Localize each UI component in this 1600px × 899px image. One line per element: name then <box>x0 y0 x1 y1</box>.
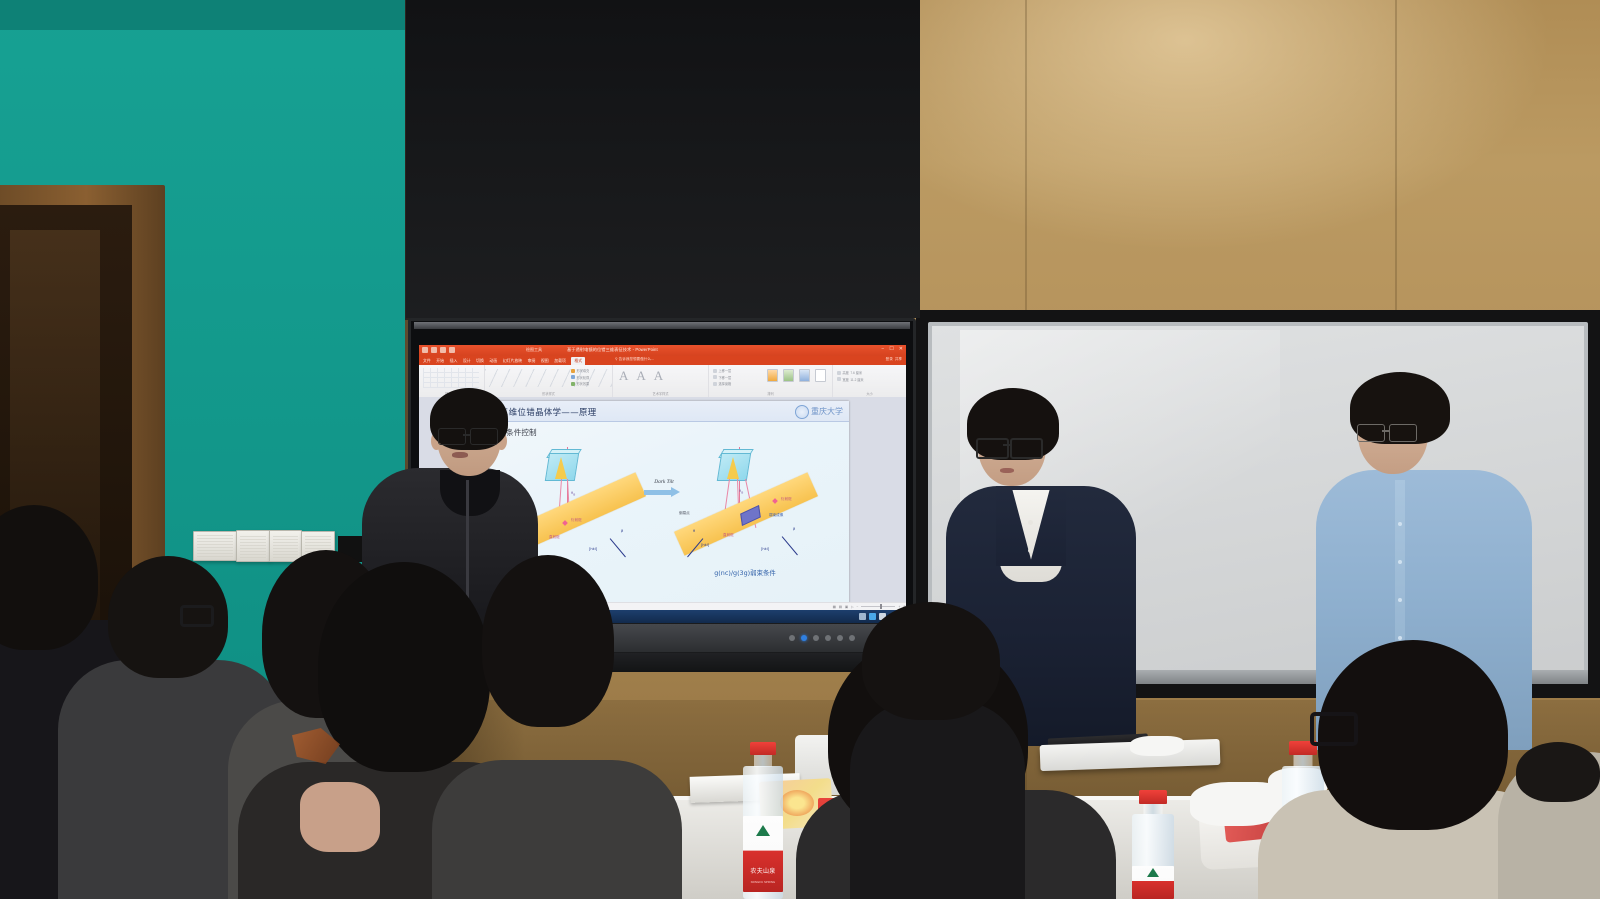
university-logo: 重庆大学 <box>795 405 843 419</box>
start-slideshow-icon[interactable] <box>449 347 455 353</box>
seated-attendee-7 <box>850 700 1025 899</box>
width-value[interactable]: 11.2 厘米 <box>850 377 863 382</box>
student-right-eyeglasses-icon <box>1389 424 1417 442</box>
student-left-glasses-bridge <box>1003 444 1012 446</box>
diagram-caption-right: g(nc)/g(3g)弱束条件 <box>669 568 821 577</box>
selection-pane-item[interactable]: 选择窗格 <box>713 381 731 386</box>
presenter-eyeglasses-icon <box>438 428 466 445</box>
fill-swatch-icon <box>571 369 575 373</box>
university-name: 重庆大学 <box>811 406 843 417</box>
bring-forward-label: 上移一层 <box>719 368 732 373</box>
shirt-button <box>1028 520 1033 525</box>
height-icon <box>837 371 841 375</box>
student-right-eyeglasses-icon <box>1357 424 1385 442</box>
label-weak-beam-imaging: 弱束成像 <box>769 513 783 518</box>
outline-swatch-icon <box>571 375 575 379</box>
label-direct-spot: 直射斑 <box>549 535 560 540</box>
control-button[interactable] <box>825 635 831 641</box>
ppt-title-bar: 绘图工具 基于透射电镜的位错三维表征技术 - PowerPoint − ☐ ✕ <box>419 345 906 356</box>
align-icon[interactable] <box>767 369 778 382</box>
wall-socket-2[interactable] <box>269 530 302 562</box>
restore-icon[interactable]: ☐ <box>889 346 893 352</box>
shape-fill-label: 形状填充 <box>577 368 590 373</box>
shape-gallery-icon[interactable] <box>423 368 479 388</box>
student-right-glasses-bridge <box>1382 430 1390 432</box>
ribbon-group-label: 排列 <box>709 391 832 396</box>
tab-home[interactable]: 开始 <box>436 358 444 364</box>
slide-title: 三维位错晶体学——原理 <box>500 406 597 418</box>
label-hkl-left: [hkl] <box>701 543 709 547</box>
send-backward-label: 下移一层 <box>719 375 732 380</box>
water-bottle: 农夫山泉 NONGFU SPRING <box>740 742 786 899</box>
height-value[interactable]: 7.6 厘米 <box>850 370 862 375</box>
width-icon <box>837 377 841 381</box>
control-button[interactable] <box>837 635 843 641</box>
ribbon-group-wordart-styles[interactable]: A A A 艺术字样式 <box>613 365 709 397</box>
save-icon[interactable] <box>422 347 428 353</box>
document-title: 基于透射电镜的位错三维表征技术 - PowerPoint <box>567 347 658 353</box>
student-left-eyeglasses-icon <box>976 438 1009 459</box>
tab-animation[interactable]: 动画 <box>489 358 497 364</box>
ribbon-group-size[interactable]: 高度7.6 厘米 宽度11.2 厘米 大小 <box>833 365 906 397</box>
label-theta: θ <box>693 529 695 533</box>
display-upper-housing <box>406 0 920 318</box>
seated-attendee-2-eyeglasses-icon <box>180 605 214 627</box>
diagram-weak-beam: 入射电子束 z θB 衍射斑 弱束成像 直射斑 倒易点 <box>669 447 821 581</box>
shape-outline-item[interactable]: 形状轮廓 <box>571 375 589 380</box>
student-left-mouth <box>1000 468 1014 473</box>
tab-slideshow[interactable]: 幻灯片放映 <box>503 358 522 364</box>
shirt-button <box>1398 522 1402 526</box>
presenter-mouth <box>452 452 468 458</box>
axis-beta <box>610 538 626 557</box>
wall-socket-1[interactable] <box>236 530 270 562</box>
seated-attendee-7-head <box>862 602 1000 720</box>
close-icon[interactable]: ✕ <box>899 346 903 352</box>
shape-effects-label: 形状效果 <box>577 381 590 386</box>
network-icon[interactable] <box>859 613 866 620</box>
shirt-button <box>1398 598 1402 602</box>
minimize-icon[interactable]: − <box>881 346 884 352</box>
water-bottle <box>1128 790 1178 899</box>
ribbon-group-arrange[interactable]: 上移一层 下移一层 选择窗格 排列 <box>709 365 833 397</box>
group-icon[interactable] <box>783 369 794 382</box>
undo-icon[interactable] <box>431 347 437 353</box>
display-buttons[interactable] <box>789 635 855 641</box>
lecture-room-photo: 绘图工具 基于透射电镜的位错三维表征技术 - PowerPoint − ☐ ✕ … <box>0 0 1600 899</box>
tell-me-label: 告诉我您想要做什么... <box>619 357 654 361</box>
light-switch-double[interactable] <box>193 531 237 561</box>
quick-access-toolbar[interactable] <box>422 347 455 353</box>
tissue-pile <box>1130 736 1184 756</box>
beam-cone <box>727 457 739 479</box>
mountain-logo-icon <box>1147 868 1159 877</box>
seated-attendee-5 <box>432 760 682 899</box>
bottle-brand-cn: 农夫山泉 <box>743 866 783 875</box>
width-label: 宽度 <box>843 377 849 382</box>
seated-attendee-9-head <box>1516 742 1600 802</box>
shape-fill-item[interactable]: 形状填充 <box>571 368 589 373</box>
zoom-out-icon[interactable]: − <box>857 605 859 609</box>
seated-attendee-5-head <box>482 555 614 727</box>
bottle-label: 农夫山泉 NONGFU SPRING <box>743 816 783 892</box>
shape-effects-item[interactable]: 形状效果 <box>571 381 589 386</box>
ribbon-group-label: 艺术字样式 <box>613 391 708 396</box>
control-button[interactable] <box>849 635 855 641</box>
width-field[interactable]: 宽度11.2 厘米 <box>837 377 864 382</box>
selection-pane-icon <box>713 382 717 386</box>
label-diffraction-spot: 衍射斑 <box>571 518 582 523</box>
beam-cone <box>555 457 567 479</box>
display-top-highlight <box>414 322 910 329</box>
rotate-icon[interactable] <box>799 369 810 382</box>
send-backward-icon <box>713 375 717 379</box>
ribbon-group-shape-styles[interactable]: 形状填充 形状轮廓 形状效果 形状样式 <box>485 365 613 397</box>
cqu-seal-icon <box>795 405 809 419</box>
account-area[interactable]: 登录 共享 <box>886 357 902 362</box>
bring-forward-icon <box>713 369 717 373</box>
tab-addins[interactable]: 加载项 <box>554 358 566 364</box>
label-beta: β <box>621 529 623 533</box>
bottle-cap <box>750 742 776 755</box>
tab-file[interactable]: 文件 <box>423 358 431 364</box>
window-buttons[interactable]: − ☐ ✕ <box>881 346 903 352</box>
send-backward-item[interactable]: 下移一层 <box>713 375 731 380</box>
axis-beta <box>782 536 798 555</box>
label-direct-spot: 直射斑 <box>723 533 734 538</box>
bottle-cap <box>1139 790 1167 804</box>
redo-icon[interactable] <box>440 347 446 353</box>
view-normal-icon[interactable]: ▦ <box>833 605 836 609</box>
wordart-style-a2[interactable]: A <box>636 369 645 382</box>
tab-view[interactable]: 视图 <box>541 358 549 364</box>
view-and-zoom-controls[interactable]: ▦ ▤ ▣ ▷ − + 68% <box>833 605 906 609</box>
label-reciprocal-point: 倒易点 <box>679 511 690 516</box>
seated-attendee-hand <box>300 782 380 852</box>
bottle-brand-en: NONGFU SPRING <box>743 881 783 884</box>
ribbon-tab-strip[interactable]: 文件 开始 插入 设计 切换 动画 幻灯片放映 审阅 视图 加载项 格式 <box>419 356 906 365</box>
wordart-style-a1[interactable]: A <box>619 369 628 382</box>
label-theta-b: θB <box>739 489 743 495</box>
zoom-slider[interactable] <box>861 606 895 607</box>
presenter-eyeglasses-icon <box>470 428 498 445</box>
shirt-button <box>1398 560 1402 564</box>
arrange-more-icon[interactable] <box>815 369 826 382</box>
student-left-eyeglasses-icon <box>1010 438 1043 459</box>
effects-swatch-icon <box>571 382 575 386</box>
wordart-style-a3[interactable]: A <box>654 369 663 382</box>
shirt-button <box>1028 548 1033 553</box>
tell-me-search[interactable]: ⚲ 告诉我您想要做什么... <box>615 357 654 362</box>
seated-attendee-8-eyeglasses-icon <box>1310 712 1358 746</box>
ribbon-group-label: 形状样式 <box>485 391 612 396</box>
mountain-logo-icon <box>756 825 770 836</box>
presenter-glasses-bridge <box>463 434 471 436</box>
shape-style-gallery-icon[interactable] <box>485 369 612 387</box>
selection-pane-label: 选择窗格 <box>719 381 732 386</box>
seated-attendee-4-head <box>318 562 490 772</box>
shape-outline-label: 形状轮廓 <box>577 375 590 380</box>
power-button[interactable] <box>801 635 807 641</box>
view-slideshow-icon[interactable]: ▷ <box>851 605 854 609</box>
height-label: 高度 <box>843 370 849 375</box>
label-beta: β <box>793 527 795 531</box>
teal-wall-top-shadow <box>0 0 412 30</box>
shirt-button <box>1398 636 1402 640</box>
share-label[interactable]: 共享 <box>895 357 902 361</box>
label-diffraction-spot: 衍射斑 <box>781 497 792 502</box>
tab-review[interactable]: 审阅 <box>528 358 536 364</box>
view-sorter-icon[interactable]: ▤ <box>839 605 842 609</box>
view-reading-icon[interactable]: ▣ <box>845 605 848 609</box>
volume-icon[interactable] <box>869 613 876 620</box>
tab-insert[interactable]: 插入 <box>450 358 458 364</box>
tab-format[interactable]: 格式 <box>571 357 585 365</box>
sign-in-label: 登录 <box>886 357 893 361</box>
label-theta-b: θB <box>571 491 575 497</box>
height-field[interactable]: 高度7.6 厘米 <box>837 370 864 375</box>
tab-transition[interactable]: 切换 <box>476 358 484 364</box>
tab-design[interactable]: 设计 <box>463 358 471 364</box>
label-hkl-right: [hkl] <box>761 547 769 551</box>
bring-forward-item[interactable]: 上移一层 <box>713 368 731 373</box>
control-button[interactable] <box>813 635 819 641</box>
control-button[interactable] <box>789 635 795 641</box>
bottle-label <box>1132 866 1174 899</box>
ribbon-group-label: 大小 <box>833 391 906 396</box>
label-hkl-right: [hkl] <box>589 547 597 551</box>
contextual-tab-label: 绘图工具 <box>526 347 542 353</box>
